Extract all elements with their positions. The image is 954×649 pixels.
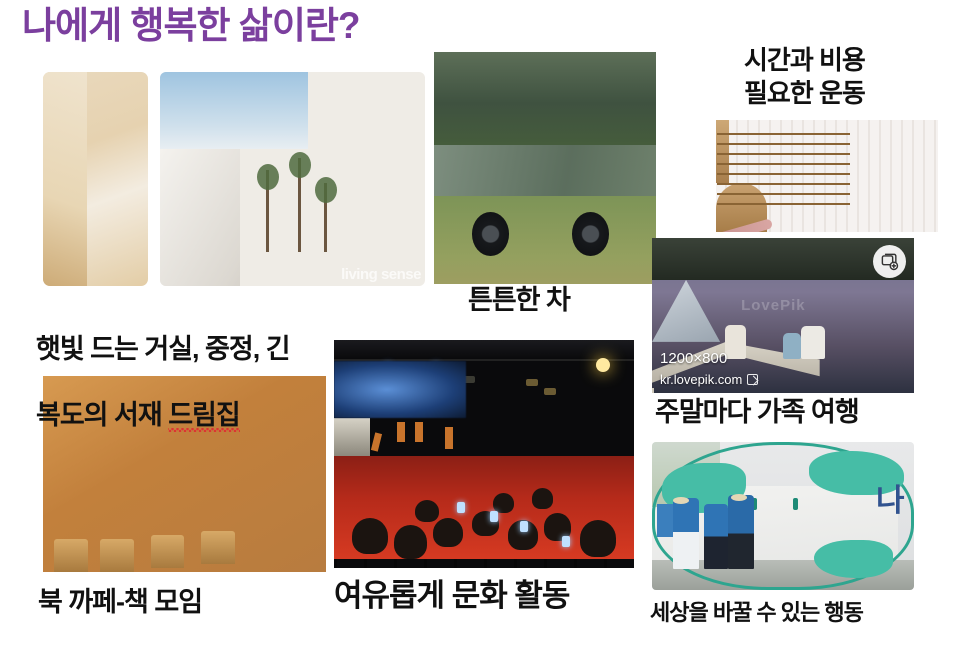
image-theatre-performance <box>334 340 634 568</box>
image-dimension-label: 1200×800 <box>660 350 727 367</box>
theatre-phone-screen <box>457 502 465 513</box>
theatre-audience-head <box>580 520 616 556</box>
caption-dream-house-line2-prefix: 복도의 서재 <box>36 400 168 430</box>
source-text: kr.lovepik.com <box>660 372 742 387</box>
living-sense-watermark: living sense <box>341 266 421 283</box>
theatre-stage-prop-chair <box>415 422 423 442</box>
mural-volunteer <box>728 495 754 569</box>
theatre-phone-screen <box>520 521 528 532</box>
pilates-ladder-prop <box>716 120 729 183</box>
camp-pole <box>652 388 654 393</box>
image-source-label[interactable]: kr.lovepik.com <box>660 372 758 387</box>
theatre-side-panel <box>334 418 370 457</box>
stack-add-glyph <box>880 252 899 271</box>
theatre-audience-head <box>493 493 514 514</box>
caption-book-cafe: 북 까페-책 모임 <box>38 586 202 619</box>
image-suv-car <box>434 52 656 284</box>
theatre-warm-spotlight <box>596 358 610 372</box>
image-pilates-exercise <box>716 120 938 232</box>
theatre-audience-head <box>394 525 427 559</box>
mural-wall-text: 나 <box>876 475 904 520</box>
camp-person <box>783 333 801 359</box>
theatre-audience-head <box>532 488 553 509</box>
mural-volunteer <box>704 504 728 569</box>
image-courtyard-house: living sense <box>160 72 425 286</box>
external-link-icon <box>747 374 758 385</box>
camp-person <box>801 326 825 359</box>
courtyard-tree <box>266 170 269 251</box>
camp-tent <box>652 280 720 342</box>
mural-sun-hat <box>731 494 747 501</box>
lovepik-faint-watermark: LovePik <box>741 297 806 314</box>
theatre-stage-prop-chair <box>371 433 382 452</box>
caption-dream-house-line2: 복도의 서재 드림집 <box>36 399 290 432</box>
slide-canvas: 나에게 행복한 삶이란? living sense <box>0 0 954 649</box>
page-title: 나에게 행복한 삶이란? <box>22 6 360 47</box>
corridor-wall <box>43 72 87 286</box>
car-mountain-backdrop <box>434 52 656 145</box>
caption-dream-house-misspelled-word: 드림집 <box>168 400 240 430</box>
mural-volunteer <box>657 504 673 537</box>
theatre-seat-rows <box>334 559 634 568</box>
caption-family-trip: 주말마다 가족 여행 <box>655 396 859 429</box>
caption-dream-house-line1: 햇빛 드는 거실, 중정, 긴 <box>36 333 290 366</box>
theatre-audience-head <box>415 500 439 523</box>
library-chair <box>151 535 185 568</box>
image-mural-volunteering: 나 <box>652 442 914 590</box>
theatre-lighting-rig <box>334 340 634 361</box>
image-corridor-bookshelf <box>43 72 148 286</box>
theatre-stage-prop-chair <box>397 422 405 442</box>
library-chair <box>100 539 134 572</box>
stack-add-icon[interactable] <box>873 245 906 278</box>
courtyard-tree <box>324 183 327 251</box>
theatre-stage-floor <box>334 361 466 418</box>
theatre-phone-screen <box>490 511 498 522</box>
courtyard-sky <box>160 72 308 149</box>
courtyard-left-wing <box>160 149 240 286</box>
library-chair <box>201 531 235 564</box>
library-chair <box>54 539 88 572</box>
mural-continent <box>814 540 893 578</box>
theatre-phone-screen <box>562 536 570 547</box>
theatre-stage-lamp <box>544 388 556 395</box>
theatre-audience-head <box>433 518 463 548</box>
image-family-camping: LovePik 1200×800 kr.lovepik.com <box>652 238 914 393</box>
car-grass-field <box>434 196 656 284</box>
courtyard-tree <box>298 158 301 252</box>
caption-culture-activity: 여유롭게 문화 활동 <box>334 577 569 615</box>
caption-dream-house: 햇빛 드는 거실, 중정, 긴 복도의 서재 드림집 <box>36 300 290 465</box>
theatre-stage-lamp <box>526 379 538 386</box>
theatre-stage-prop-chair <box>445 427 453 449</box>
mural-eye <box>793 498 798 510</box>
car-forest-ridge <box>434 145 656 196</box>
theatre-audience-head <box>352 518 388 554</box>
caption-changing-world-action: 세상을 바꿀 수 있는 행동 <box>650 600 863 627</box>
caption-car: 튼튼한 차 <box>468 284 570 317</box>
camp-person <box>725 325 746 359</box>
mural-volunteer <box>673 498 699 569</box>
caption-exercise: 시간과 비용 필요한 운동 <box>744 44 865 109</box>
